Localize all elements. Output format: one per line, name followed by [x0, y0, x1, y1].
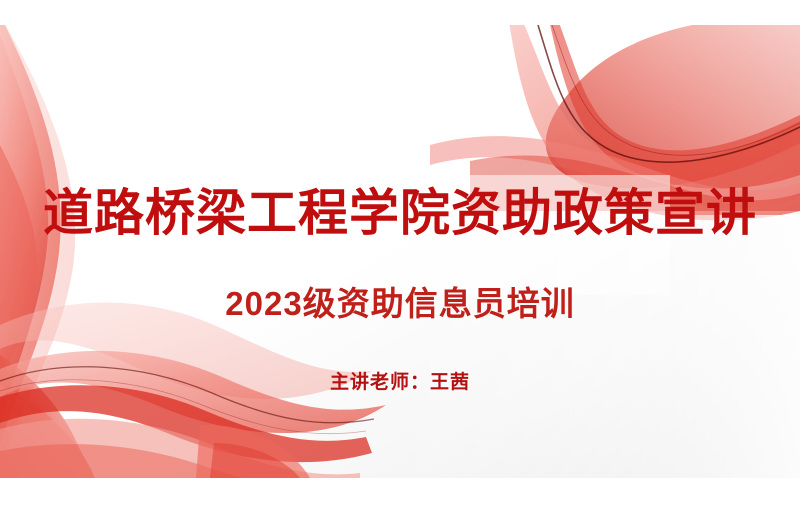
slide-subtitle: 2023级资助信息员培训	[0, 287, 800, 322]
page-title: 道路桥梁工程学院资助政策宣讲	[0, 187, 800, 240]
presenter-label: 主讲老师：王茜	[0, 373, 800, 394]
presentation-slide: 道路桥梁工程学院资助政策宣讲 2023级资助信息员培训 主讲老师：王茜	[0, 0, 800, 507]
slide-text-block: 道路桥梁工程学院资助政策宣讲 2023级资助信息员培训 主讲老师：王茜	[0, 25, 800, 478]
slide-canvas: 道路桥梁工程学院资助政策宣讲 2023级资助信息员培训 主讲老师：王茜	[0, 25, 800, 478]
